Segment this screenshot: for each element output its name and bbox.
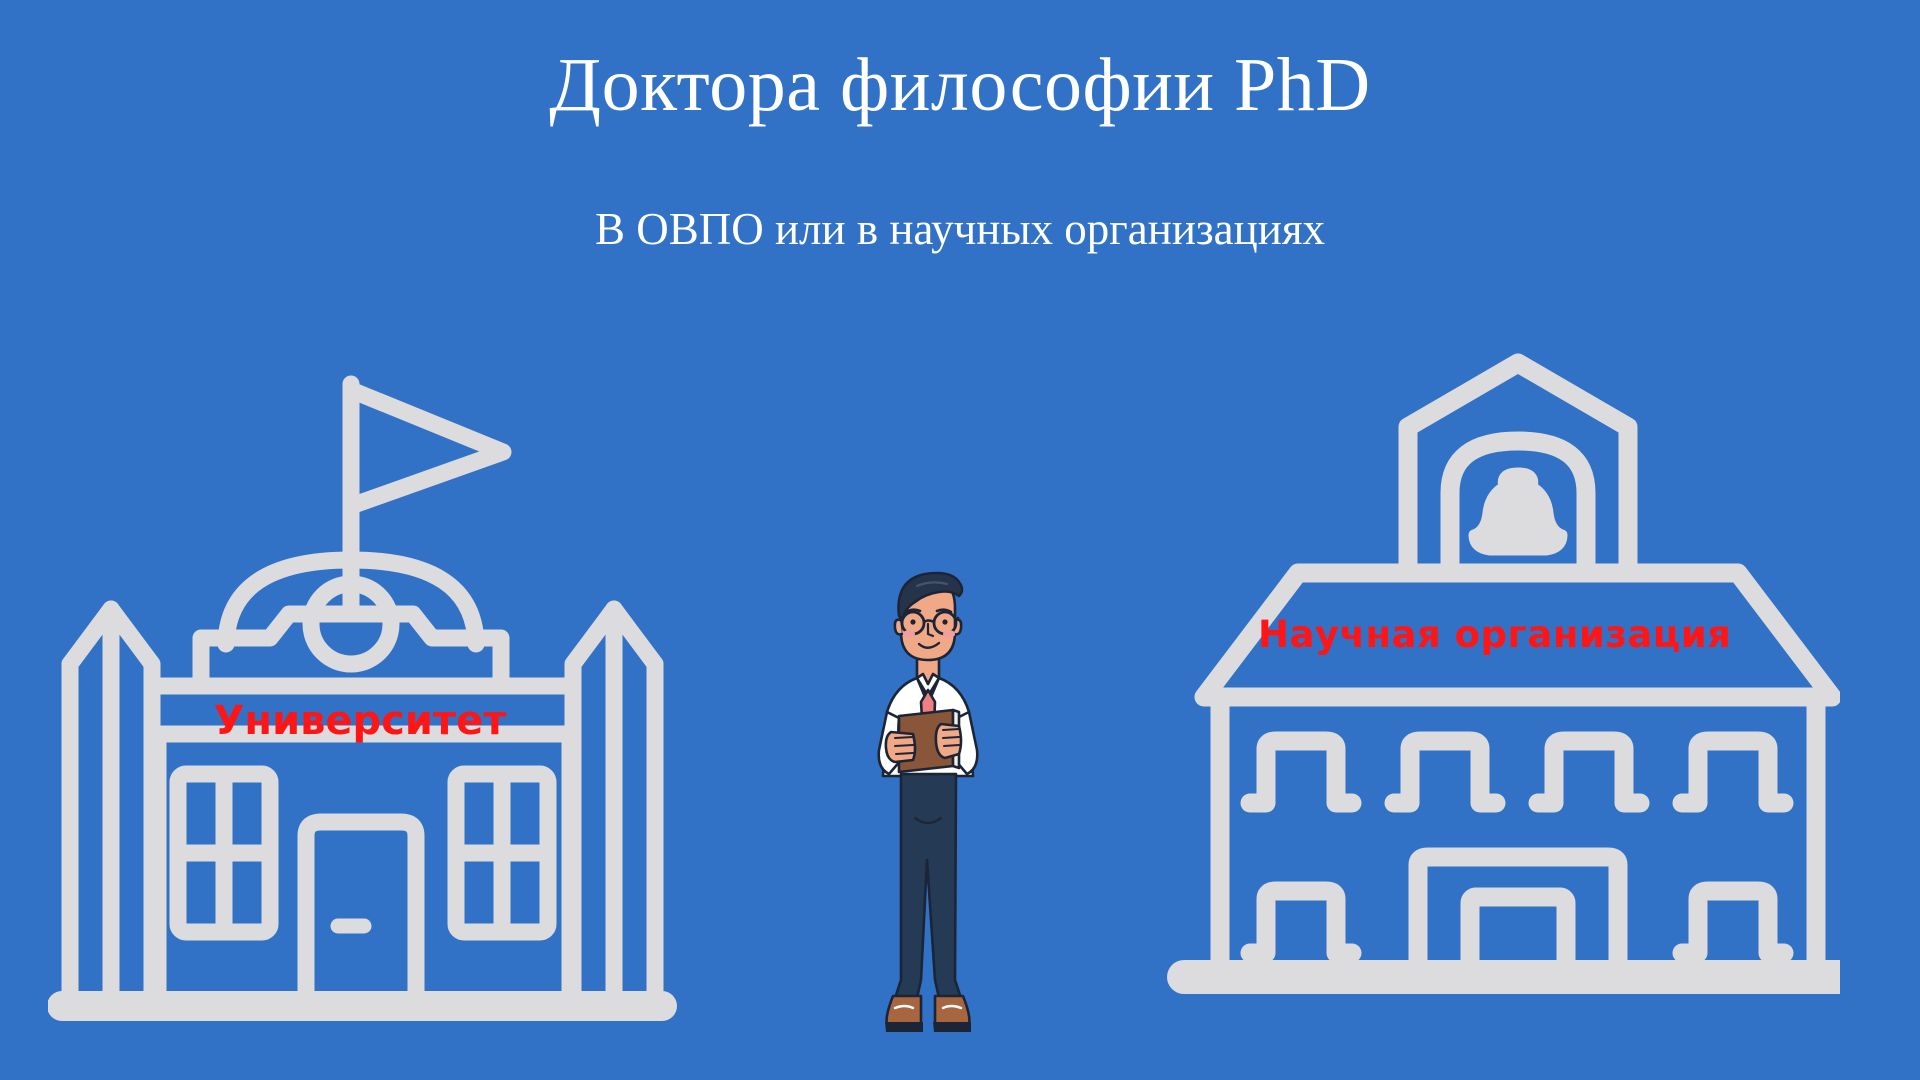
- upper-window-1: [1250, 741, 1352, 803]
- eye-left: [910, 619, 915, 624]
- pediment-outline: [152, 614, 573, 686]
- bell-icon: [1474, 473, 1562, 550]
- glasses-bridge: [924, 621, 934, 623]
- lower-window-left: [1250, 891, 1352, 953]
- page-subtitle: В ОВПО или в научных организациях: [0, 205, 1920, 255]
- lower-window-right: [1682, 891, 1784, 953]
- shoe-left-sole: [885, 1022, 923, 1032]
- research-organization-caption-label: Научная организация: [1258, 613, 1718, 656]
- shoe-right-sole: [933, 1022, 971, 1032]
- flag-icon: [351, 390, 503, 506]
- upper-window-4: [1682, 741, 1784, 803]
- blush-left: [903, 630, 915, 638]
- university-building-illustration: [48, 356, 678, 1036]
- page-title: Доктора философии PhD: [0, 46, 1920, 126]
- shoe-left: [887, 996, 921, 1024]
- university-building-icon: [48, 356, 678, 1036]
- slide-canvas: Доктора философии PhD В ОВПО или в научн…: [0, 0, 1920, 1080]
- blush-right: [943, 630, 955, 638]
- entrance-door: [1418, 857, 1618, 977]
- research-building-icon: [1140, 345, 1840, 1045]
- trousers: [895, 772, 961, 998]
- shoe-right: [935, 996, 969, 1024]
- entrance-door: [306, 822, 416, 1006]
- upper-window-3: [1538, 741, 1640, 803]
- upper-window-2: [1394, 741, 1496, 803]
- scientist-person-illustration: [855, 560, 1005, 1060]
- upper-windows-row: [1250, 741, 1784, 803]
- research-building-illustration: [1140, 345, 1840, 1045]
- university-caption-label: Университет: [180, 698, 540, 744]
- scientist-person-icon: [855, 560, 1005, 1060]
- eye-right: [942, 619, 947, 624]
